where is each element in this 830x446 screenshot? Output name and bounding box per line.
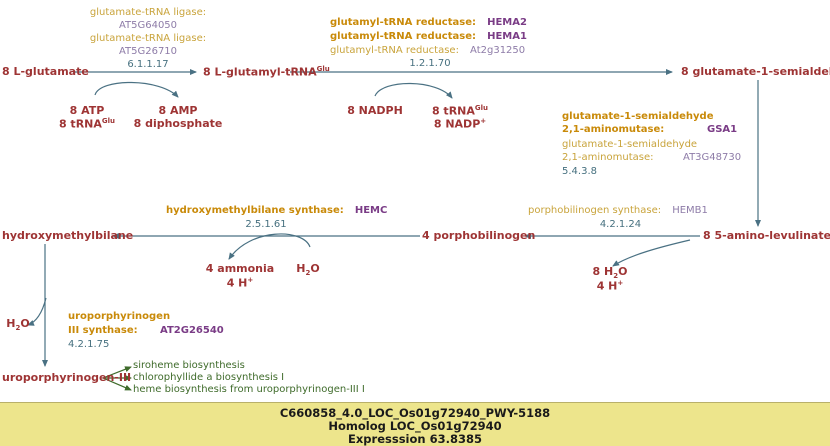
cofactor-water-uro: H2O — [2, 318, 34, 333]
cofactor-8-trna-glu-product: 8 tRNAGlu — [420, 105, 500, 117]
ec-number-6-1-1-17: 6.1.1.17 — [78, 54, 218, 71]
cofactor-water-hmb: H2O — [288, 263, 328, 278]
compound-uroporphyrinogen-iii[interactable]: uroporphyrinogen-III — [2, 372, 131, 384]
arc-reductase-cofactors — [375, 83, 452, 98]
ec-number-5-4-3-8: 5.4.3.8 — [562, 161, 597, 178]
ec-number-4-2-1-24: 4.2.1.24 — [528, 214, 713, 231]
compound-5-amino-levulinate[interactable]: 8 5-amino-levulinate — [703, 230, 830, 242]
ec-number-1-2-1-70: 1.2.1.70 — [330, 53, 530, 70]
caption-banner: C660858_4.0_LOC_Os01g72940_PWY-5188 Homo… — [0, 402, 830, 446]
cofactor-8-diphosphate: 8 diphosphate — [130, 118, 226, 130]
pathway-diagram: glutamate-tRNA ligase: AT5G64050 glutama… — [0, 0, 830, 445]
ec-number-4-2-1-75: 4.2.1.75 — [68, 334, 109, 351]
compound-l-glutamyl-trna[interactable]: 8 L-glutamyl-tRNAGlu — [203, 66, 330, 78]
cofactor-4-h-plus: 4 H+ — [200, 277, 280, 289]
compound-glutamate-1-semialdehyde[interactable]: 8 glutamate-1-semialdehyde — [681, 66, 830, 78]
cofactor-8-trna-glu: 8 tRNAGlu — [42, 118, 132, 130]
gene-label-gsa1: GSA1 — [707, 119, 737, 136]
arc-porphobilinogen-products — [613, 240, 690, 266]
cofactor-4-h-plus-porphobilinogen: 4 H+ — [580, 280, 640, 292]
compound-hydroxymethylbilane[interactable]: hydroxymethylbilane — [2, 230, 133, 242]
gene-label-at3g48730: AT3G48730 — [683, 147, 741, 164]
cofactor-8-amp: 8 AMP — [130, 105, 226, 117]
arc-hmb-synthase-cofactors — [229, 234, 310, 259]
caption-line-expression: Expresssion 63.8385 — [0, 432, 830, 446]
cofactor-8-nadp-plus: 8 NADP+ — [420, 118, 500, 130]
pathway-link-heme-biosynthesis[interactable]: heme biosynthesis from uroporphyrinogen-… — [133, 385, 365, 396]
cofactor-8-nadph: 8 NADPH — [340, 105, 410, 117]
arc-ligase-cofactors — [95, 82, 178, 97]
pathway-link-chlorophyllide-a-biosynthesis[interactable]: chlorophyllide a biosynthesis I — [133, 373, 284, 384]
pathway-link-siroheme-biosynthesis[interactable]: siroheme biosynthesis — [133, 361, 245, 372]
caption-line-homolog: Homolog LOC_Os01g72940 — [0, 419, 830, 433]
cofactor-4-ammonia: 4 ammonia — [200, 263, 280, 275]
caption-line-pathway-id: C660858_4.0_LOC_Os01g72940_PWY-5188 — [0, 406, 830, 420]
gene-label-at2g26540: AT2G26540 — [160, 320, 224, 337]
cofactor-8-atp: 8 ATP — [52, 105, 122, 117]
compound-porphobilinogen[interactable]: 4 porphobilinogen — [422, 230, 535, 242]
cofactor-8-water: 8 H2O — [580, 266, 640, 281]
ec-number-2-5-1-61: 2.5.1.61 — [166, 214, 366, 231]
compound-l-glutamate[interactable]: 8 L-glutamate — [2, 66, 89, 78]
